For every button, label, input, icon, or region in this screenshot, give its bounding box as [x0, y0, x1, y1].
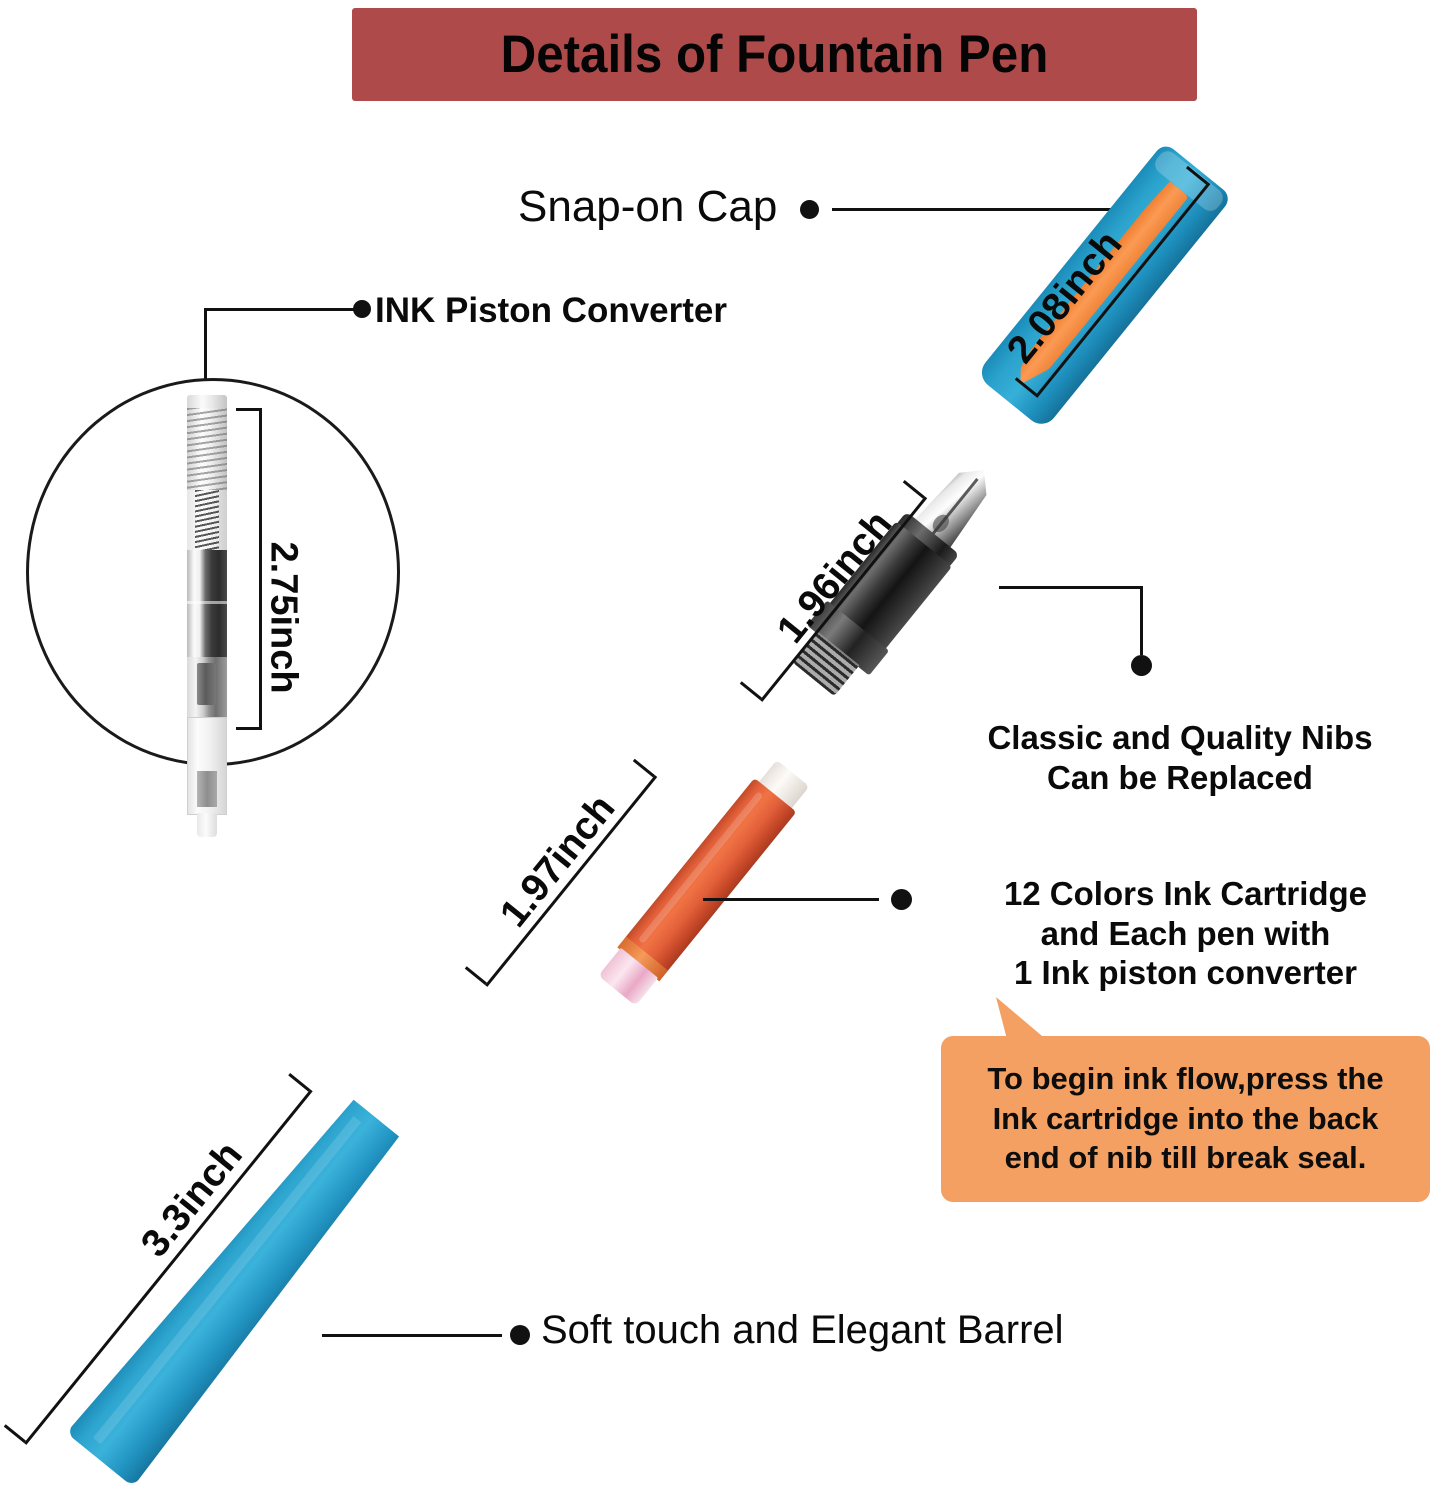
converter-piston-head [197, 663, 215, 705]
callout-line-2: Ink cartridge into the back [993, 1102, 1379, 1137]
ink-piston-converter [187, 395, 227, 743]
converter-inner-plug [197, 771, 217, 807]
cartridge-note-line-2: and Each pen with [941, 914, 1430, 954]
label-snap-on-cap: Snap-on Cap [518, 182, 777, 232]
cartridge-note-leader-line [703, 898, 879, 901]
converter-metal-band [187, 550, 227, 662]
ink-cartridge [594, 755, 815, 1009]
nib-note-block: Classic and Quality Nibs Can be Replaced [968, 718, 1392, 797]
ink-piston-converter-bullet [353, 300, 371, 318]
barrel-note-leader-line [322, 1334, 502, 1337]
page-title-banner: Details of Fountain Pen [352, 8, 1197, 101]
nib-note-line-2: Can be Replaced [968, 758, 1392, 798]
snap-on-cap [975, 142, 1232, 431]
snap-on-cap-bullet [800, 200, 819, 219]
callout-tail [996, 997, 1048, 1041]
nib-note-line-1: Classic and Quality Nibs [968, 718, 1392, 758]
dimension-label-converter: 2.75inch [262, 542, 305, 694]
nib-note-leader-line [999, 586, 1143, 589]
label-soft-touch-barrel: Soft touch and Elegant Barrel [541, 1308, 1064, 1353]
cartridge-note-bullet [891, 889, 912, 910]
label-ink-piston-converter: INK Piston Converter [375, 291, 727, 331]
dimension-label-cartridge: 1.97inch [492, 787, 624, 936]
snap-on-cap-leader-line [832, 208, 1128, 211]
converter-cap-top [187, 395, 227, 409]
cartridge-note-line-3: 1 Ink piston converter [941, 953, 1430, 993]
barrel-note-bullet [510, 1325, 530, 1345]
infographic-page: Details of Fountain Pen Snap-on Cap INK … [0, 0, 1445, 1500]
ink-piston-converter-leader-line [204, 308, 354, 311]
nib-note-bullet [1131, 655, 1152, 676]
converter-screw-thread [195, 490, 220, 552]
converter-metal-seam [187, 601, 227, 604]
callout-line-1: To begin ink flow,press the [987, 1062, 1383, 1097]
nib-note-leader-drop [1140, 586, 1143, 655]
callout-line-3: end of nib till break seal. [1005, 1141, 1367, 1176]
page-title: Details of Fountain Pen [501, 24, 1049, 85]
converter-tail [197, 813, 218, 837]
cartridge-note-block: 12 Colors Ink Cartridge and Each pen wit… [941, 874, 1430, 993]
cartridge-body [623, 778, 797, 975]
callout-bubble: To begin ink flow,press the Ink cartridg… [941, 1036, 1430, 1202]
cartridge-note-line-1: 12 Colors Ink Cartridge [941, 874, 1430, 914]
